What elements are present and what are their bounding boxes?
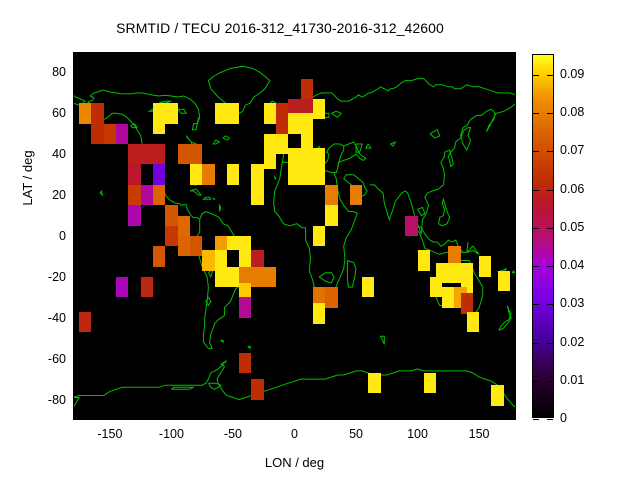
heatmap-cell <box>405 216 417 236</box>
heatmap-cell <box>313 303 325 323</box>
coastline-path <box>73 398 79 408</box>
coastline-path <box>381 336 385 344</box>
heatmap-cell <box>141 185 153 205</box>
colorbar-tick-mark <box>533 419 539 420</box>
x-axis-tick-label: 150 <box>444 427 514 441</box>
coastline-path <box>418 207 425 215</box>
coastline-path <box>221 340 223 342</box>
coastline-path <box>100 191 102 195</box>
heatmap-cell <box>239 353 251 373</box>
colorbar-tick-label: 0 <box>560 412 567 424</box>
y-axis-tick-label: 80 <box>0 66 66 78</box>
y-axis-label: LAT / deg <box>20 68 35 288</box>
y-axis-tick-label: 40 <box>0 148 66 160</box>
heatmap-cell <box>215 267 227 287</box>
coastline-path <box>178 109 187 113</box>
heatmap-cell <box>128 144 140 164</box>
colorbar-tick-mark <box>547 343 553 344</box>
coastline-path <box>213 198 214 199</box>
coastline-path <box>219 205 220 211</box>
colorbar-tick-mark <box>547 304 553 305</box>
heatmap-cell <box>301 79 313 99</box>
heatmap-plot-area <box>73 52 516 420</box>
colorbar-tick-mark <box>533 151 539 152</box>
heatmap-cell <box>141 277 153 297</box>
heatmap-cell <box>325 185 337 205</box>
coastline-path <box>391 142 396 146</box>
colorbar-tick-mark <box>533 304 539 305</box>
heatmap-cell <box>116 277 128 297</box>
heatmap-cell <box>227 164 239 184</box>
colorbar-tick-mark <box>533 266 539 267</box>
coastline-path <box>275 177 276 179</box>
heatmap-cell <box>430 277 442 297</box>
x-axis-tick-label: -100 <box>136 427 206 441</box>
colorbar-tick-mark <box>547 381 553 382</box>
heatmap-cell <box>178 236 190 256</box>
coastline-path <box>331 111 341 117</box>
colorbar-tick-label: 0.02 <box>560 336 584 348</box>
heatmap-cell <box>153 185 165 205</box>
heatmap-cell <box>301 164 313 184</box>
colorbar-tick-label: 0.03 <box>560 297 584 309</box>
heatmap-cell <box>190 236 202 256</box>
coastline-path <box>248 346 251 348</box>
heatmap-cell <box>251 267 263 287</box>
heatmap-cell <box>178 144 190 164</box>
colorbar-tick-mark <box>547 228 553 229</box>
coastline-path <box>171 387 193 389</box>
coastline-path <box>366 144 371 148</box>
heatmap-cell <box>313 164 325 184</box>
heatmap-cell <box>301 113 313 133</box>
heatmap-cell <box>442 287 454 307</box>
colorbar-tick-mark <box>547 266 553 267</box>
heatmap-cell <box>350 185 362 205</box>
colorbar-tick-mark <box>533 113 539 114</box>
heatmap-cell <box>288 113 300 133</box>
heatmap-cell <box>264 267 276 287</box>
colorbar-tick-mark <box>533 381 539 382</box>
heatmap-cell <box>202 250 214 270</box>
heatmap-cell <box>313 226 325 246</box>
heatmap-cell <box>153 144 165 164</box>
heatmap-cell <box>276 134 288 154</box>
colorbar-tick-mark <box>533 343 539 344</box>
heatmap-cell <box>128 205 140 225</box>
colorbar-tick-label: 0.08 <box>560 106 584 118</box>
x-axis-tick-label: -50 <box>198 427 268 441</box>
coastline-path <box>190 189 201 195</box>
y-axis-tick-label: 20 <box>0 189 66 201</box>
heatmap-cell <box>264 148 276 168</box>
heatmap-cell <box>461 293 473 313</box>
heatmap-cell <box>165 205 177 225</box>
colorbar-tick-label: 0.09 <box>560 68 584 80</box>
coastline-path <box>213 140 219 144</box>
heatmap-cell <box>190 144 202 164</box>
heatmap-cell <box>153 113 165 133</box>
heatmap-cell <box>227 267 239 287</box>
heatmap-cell <box>264 103 276 123</box>
tec-map-figure: SRMTID / TECU 2016-312_41730-2016-312_42… <box>0 0 640 480</box>
heatmap-cell <box>313 99 325 119</box>
y-axis-tick-label: -40 <box>0 312 66 324</box>
chart-title: SRMTID / TECU 2016-312_41730-2016-312_42… <box>0 20 560 36</box>
heatmap-cell <box>141 144 153 164</box>
heatmap-cell <box>239 297 251 317</box>
heatmap-cell <box>104 124 116 144</box>
heatmap-cell <box>368 373 380 393</box>
y-axis-tick-label: -60 <box>0 353 66 365</box>
heatmap-cell <box>362 277 374 297</box>
heatmap-cell <box>128 164 140 184</box>
colorbar-tick-mark <box>547 113 553 114</box>
heatmap-cell <box>79 103 91 123</box>
heatmap-cell <box>325 287 337 307</box>
colorbar-gradient <box>533 55 553 417</box>
heatmap-cell <box>276 113 288 133</box>
heatmap-cell <box>190 164 202 184</box>
heatmap-cell <box>91 103 103 123</box>
coastline-path <box>370 103 516 234</box>
colorbar-tick-label: 0.01 <box>560 374 584 386</box>
colorbar-tick-label: 0.06 <box>560 183 584 195</box>
heatmap-cell <box>153 246 165 266</box>
heatmap-cell <box>128 185 140 205</box>
heatmap-cell <box>165 226 177 246</box>
x-axis-tick-label: -150 <box>75 427 145 441</box>
heatmap-cell <box>479 256 491 276</box>
y-axis-tick-label: -80 <box>0 394 66 406</box>
heatmap-cell <box>79 312 91 332</box>
coastline-path <box>439 199 450 226</box>
heatmap-cell <box>178 216 190 236</box>
heatmap-cell <box>202 164 214 184</box>
colorbar <box>532 54 554 418</box>
colorbar-tick-mark <box>547 190 553 191</box>
heatmap-cell <box>325 205 337 225</box>
coastline-path <box>430 130 440 138</box>
heatmap-cell <box>165 103 177 123</box>
heatmap-cell <box>251 164 263 184</box>
colorbar-tick-mark <box>533 228 539 229</box>
heatmap-cell <box>153 164 165 184</box>
heatmap-cell <box>251 379 263 399</box>
heatmap-cell <box>418 250 430 270</box>
coastline-path <box>208 383 220 389</box>
colorbar-tick-mark <box>547 419 553 420</box>
colorbar-tick-mark <box>533 75 539 76</box>
heatmap-cell <box>227 103 239 123</box>
coastline-path <box>347 261 356 288</box>
colorbar-tick-mark <box>547 75 553 76</box>
heatmap-cell <box>215 103 227 123</box>
heatmap-cell <box>116 124 128 144</box>
coastline-path <box>319 273 334 283</box>
colorbar-tick-label: 0.07 <box>560 144 584 156</box>
heatmap-cell <box>498 271 510 291</box>
heatmap-cell <box>288 164 300 184</box>
coastline-path <box>467 246 479 254</box>
x-axis-tick-label: 100 <box>383 427 453 441</box>
heatmap-cell <box>141 164 153 184</box>
colorbar-tick-mark <box>533 190 539 191</box>
coastline-path <box>203 197 210 199</box>
coastline-path <box>512 271 515 273</box>
colorbar-tick-mark <box>547 151 553 152</box>
heatmap-cell <box>251 185 263 205</box>
x-axis-tick-label: 0 <box>260 427 330 441</box>
x-axis-tick-label: 50 <box>321 427 391 441</box>
x-axis-label: LON / deg <box>73 455 516 470</box>
heatmap-cell <box>467 312 479 332</box>
coastline-path <box>223 136 229 140</box>
colorbar-tick-label: 0.05 <box>560 221 584 233</box>
heatmap-cell <box>424 373 436 393</box>
heatmap-cell <box>91 124 103 144</box>
colorbar-tick-label: 0.04 <box>560 259 584 271</box>
y-axis-tick-label: 0 <box>0 230 66 242</box>
coastline-path <box>73 365 516 408</box>
coastline-path <box>499 306 511 331</box>
heatmap-cell <box>491 385 503 405</box>
y-axis-tick-label: -20 <box>0 271 66 283</box>
coastline-path <box>221 361 227 365</box>
heatmap-cell <box>448 263 460 283</box>
y-axis-tick-label: 60 <box>0 107 66 119</box>
